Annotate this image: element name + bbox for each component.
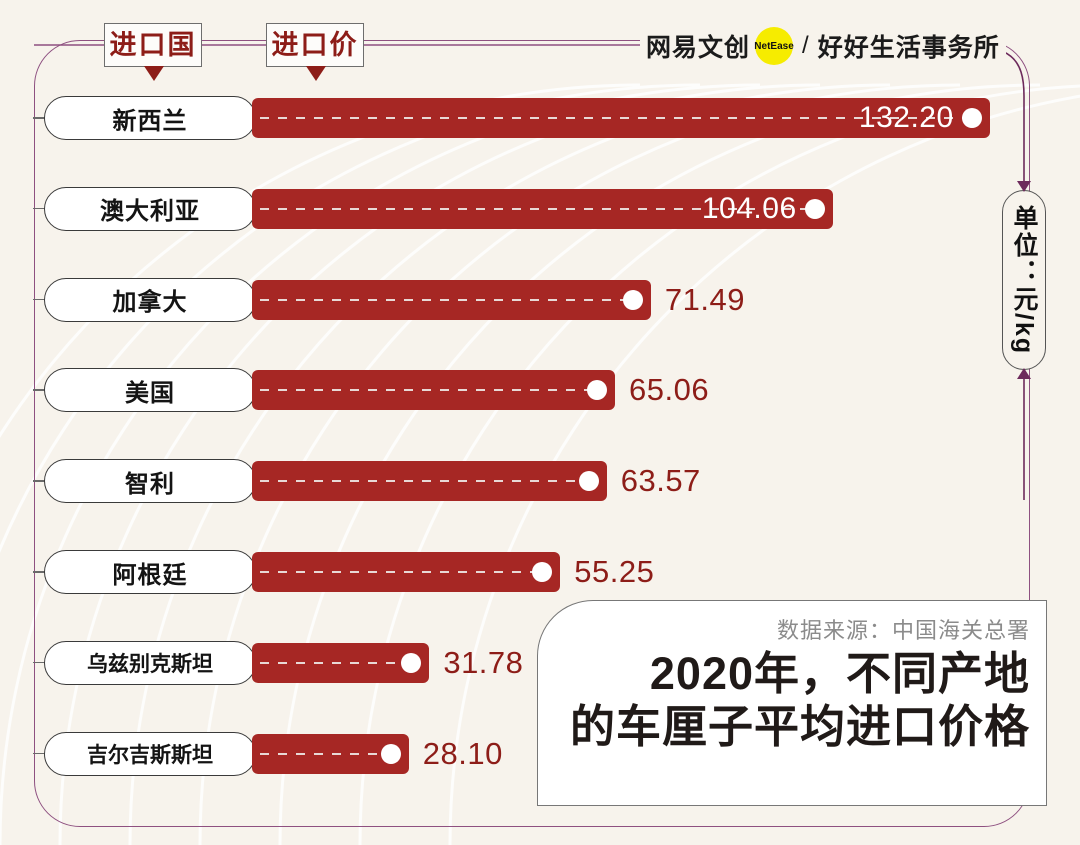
- brand-logo: 网易文创 NetEase / 好好生活事务所: [640, 26, 1006, 66]
- value-bar[interactable]: [252, 643, 429, 683]
- bar-value-label: 132.20: [859, 101, 954, 135]
- country-label: 阿根廷: [113, 555, 188, 590]
- country-label-pill[interactable]: 加拿大: [44, 278, 256, 322]
- legend-country-box: 进口国: [104, 23, 202, 67]
- infographic-canvas: 进口国 进口价 网易文创 NetEase / 好好生活事务所 新西兰132.20…: [0, 0, 1080, 845]
- country-label: 美国: [125, 373, 175, 408]
- legend-country-label: 进口国: [110, 30, 197, 60]
- page-title-line-2: 的车厘子平均进口价格: [554, 700, 1030, 753]
- value-bar[interactable]: [252, 552, 560, 592]
- country-label-pill[interactable]: 美国: [44, 368, 256, 412]
- country-label-pill[interactable]: 乌兹别克斯坦: [44, 641, 256, 685]
- country-label: 新西兰: [113, 101, 188, 136]
- unit-label: 单位：元/kg: [1006, 205, 1042, 355]
- brand-name-right: 好好生活事务所: [818, 28, 1000, 64]
- bar-end-dot-icon: [532, 562, 552, 582]
- legend-price-label: 进口价: [272, 30, 359, 60]
- value-bar[interactable]: [252, 280, 651, 320]
- netease-badge-label: NetEase: [754, 41, 793, 52]
- bar-end-dot-icon: [623, 290, 643, 310]
- bar-dashed-line: [260, 753, 383, 755]
- country-label-pill[interactable]: 吉尔吉斯斯坦: [44, 732, 256, 776]
- value-bar[interactable]: [252, 461, 607, 501]
- page-title: 2020年，不同产地 的车厘子平均进口价格: [554, 647, 1030, 753]
- bar-value-label: 55.25: [574, 553, 654, 591]
- country-label-pill[interactable]: 澳大利亚: [44, 187, 256, 231]
- page-title-line-1: 2020年，不同产地: [554, 647, 1030, 700]
- bar-dashed-line: [260, 480, 581, 482]
- bar-dashed-line: [260, 571, 534, 573]
- unit-arrow-top-icon: [1017, 181, 1031, 192]
- value-bar[interactable]: [252, 370, 615, 410]
- brand-separator: /: [802, 32, 810, 60]
- country-label: 智利: [125, 464, 175, 499]
- bar-end-dot-icon: [962, 108, 982, 128]
- netease-badge-icon: NetEase: [755, 27, 793, 65]
- bar-end-dot-icon: [805, 199, 825, 219]
- bar-value-label: 31.78: [443, 644, 523, 682]
- bar-end-dot-icon: [587, 380, 607, 400]
- country-label-pill[interactable]: 智利: [44, 459, 256, 503]
- country-label-pill[interactable]: 新西兰: [44, 96, 256, 140]
- country-label: 加拿大: [113, 282, 188, 317]
- legend-country-pointer-icon: [144, 66, 164, 81]
- value-bar[interactable]: 132.20: [252, 98, 990, 138]
- country-label: 吉尔吉斯斯坦: [87, 739, 213, 769]
- bar-value-label: 63.57: [621, 462, 701, 500]
- value-bar[interactable]: 104.06: [252, 189, 833, 229]
- data-source-text: 数据来源：中国海关总署: [554, 613, 1030, 645]
- bar-value-label: 28.10: [423, 735, 503, 773]
- unit-callout: 单位：元/kg: [1002, 190, 1046, 370]
- bar-value-label: 71.49: [665, 281, 745, 319]
- country-label-pill[interactable]: 阿根廷: [44, 550, 256, 594]
- country-label: 乌兹别克斯坦: [87, 648, 213, 678]
- country-label: 澳大利亚: [100, 191, 200, 226]
- bar-dashed-line: [260, 299, 625, 301]
- legend-price-pointer-icon: [306, 66, 326, 81]
- unit-pill: 单位：元/kg: [1002, 190, 1046, 370]
- bar-dashed-line: [260, 662, 403, 664]
- title-card: 数据来源：中国海关总署 2020年，不同产地 的车厘子平均进口价格: [537, 600, 1047, 806]
- brand-name-left: 网易文创: [646, 28, 750, 64]
- legend-price-box: 进口价: [266, 23, 364, 67]
- bar-value-label: 65.06: [629, 371, 709, 409]
- bar-end-dot-icon: [401, 653, 421, 673]
- bar-end-dot-icon: [579, 471, 599, 491]
- unit-arrow-bottom-icon: [1017, 368, 1031, 379]
- bar-value-label: 104.06: [702, 192, 797, 226]
- value-bar[interactable]: [252, 734, 409, 774]
- bar-end-dot-icon: [381, 744, 401, 764]
- bar-dashed-line: [260, 389, 589, 391]
